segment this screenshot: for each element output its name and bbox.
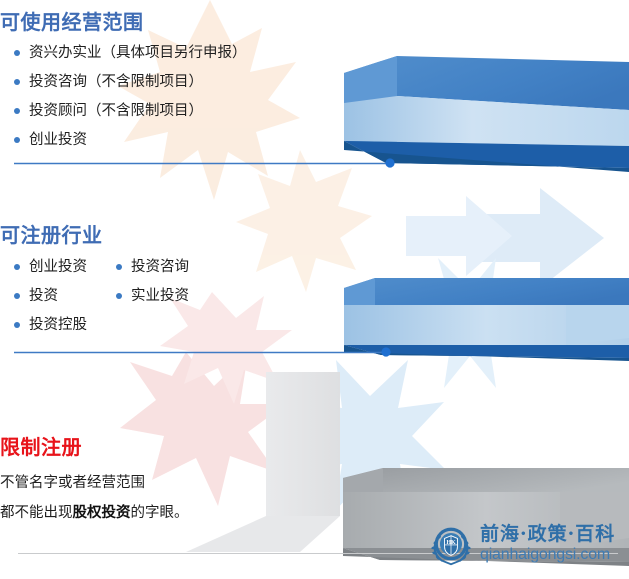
infographic-canvas: 可使用经营范围 资兴办实业（具体项目另行申报） 投资咨询（不含限制项目） xyxy=(0,0,629,579)
content-layer: 可使用经营范围 资兴办实业（具体项目另行申报） 投资咨询（不含限制项目） xyxy=(0,0,629,579)
bullet-dot-icon xyxy=(116,293,122,299)
restricted-body-text: 不管名字或者经营范围 都不能出现股权投资的字眼。 xyxy=(0,476,430,520)
list-item: 投资控股 xyxy=(0,318,430,347)
bullet-dot-icon xyxy=(14,293,20,299)
list-item: 创业投资 xyxy=(0,133,430,162)
bullet-label: 投资顾问（不含限制项目） xyxy=(29,104,203,119)
section-heading-usable-business-scope: 可使用经营范围 xyxy=(0,12,430,34)
list-item: 投资咨询（不含限制项目） xyxy=(0,75,430,104)
bullet-dot-icon xyxy=(14,264,20,270)
bullet-dot-icon xyxy=(14,79,20,85)
body-text-emphasis: 股权投资 xyxy=(73,505,131,521)
bullet-label: 投资咨询 xyxy=(131,260,189,275)
bullet-label: 投资控股 xyxy=(29,318,87,333)
bullet-label: 资兴办实业（具体项目另行申报） xyxy=(29,46,247,61)
body-line-2: 都不能出现股权投资的字眼。 xyxy=(0,506,430,521)
bullet-label: 创业投资 xyxy=(29,133,87,148)
bullet-dot-icon xyxy=(14,137,20,143)
bullet-label: 实业投资 xyxy=(131,289,189,304)
body-line-1: 不管名字或者经营范围 xyxy=(0,476,430,491)
bullet-label: 投资咨询（不含限制项目） xyxy=(29,75,203,90)
bullet-dot-icon xyxy=(14,108,20,114)
bullet-label: 创业投资 xyxy=(29,260,87,275)
body-text-plain: 都不能出现 xyxy=(0,505,73,521)
body-text-plain: 的字眼。 xyxy=(131,505,189,521)
list-item: 资兴办实业（具体项目另行申报） xyxy=(0,46,430,75)
list-item: 投资顾问（不含限制项目） xyxy=(0,104,430,133)
section-heading-registrable-industries: 可注册行业 xyxy=(0,225,430,247)
section-heading-restricted-registration: 限制注册 xyxy=(0,437,430,459)
body-text-plain: 不管名字或者经营范围 xyxy=(0,475,145,491)
ground-baseline xyxy=(18,553,618,554)
section-usable-business-scope: 可使用经营范围 资兴办实业（具体项目另行申报） 投资咨询（不含限制项目） xyxy=(0,12,430,162)
bullet-list-usable-business-scope: 资兴办实业（具体项目另行申报） 投资咨询（不含限制项目） 投资顾问（不含限制项目… xyxy=(0,46,430,162)
bullet-dot-icon xyxy=(14,50,20,56)
bullet-dot-icon xyxy=(116,264,122,270)
bullet-list-registrable-industries: 创业投资 投资咨询 投资 实业投资 xyxy=(0,260,430,347)
bullet-label: 投资 xyxy=(29,289,58,304)
list-item: 创业投资 投资咨询 xyxy=(0,260,430,289)
section-registrable-industries: 可注册行业 创业投资 投资咨询 投资 xyxy=(0,225,430,347)
list-item: 投资 实业投资 xyxy=(0,289,430,318)
section-restricted-registration: 限制注册 不管名字或者经营范围 都不能出现股权投资的字眼。 xyxy=(0,437,430,520)
bullet-dot-icon xyxy=(14,322,20,328)
